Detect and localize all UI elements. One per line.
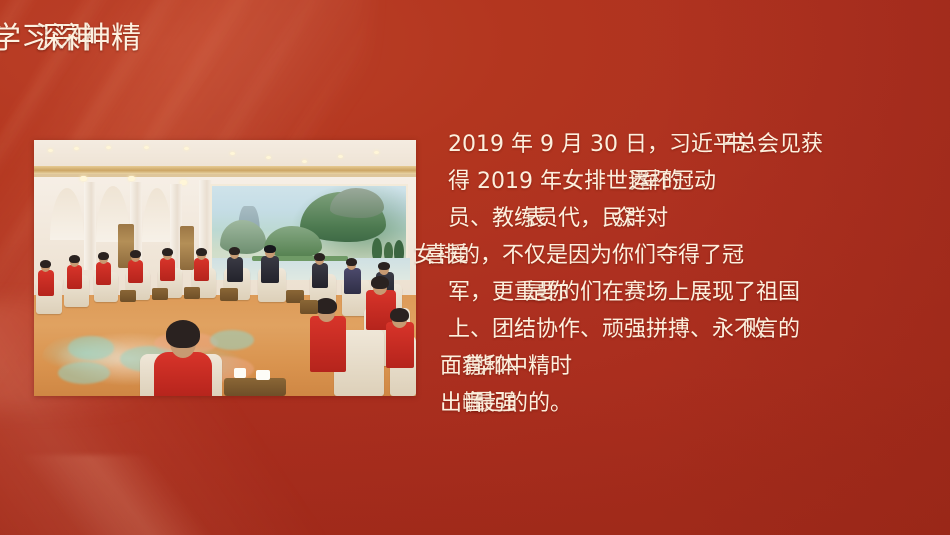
- slide-title-segment-b: 精: [111, 21, 141, 56]
- side-table: [300, 300, 318, 314]
- body-line-2: 得 2019 年女排世界杯冠军的运动: [448, 163, 928, 200]
- meeting-photo: [34, 140, 416, 396]
- athlete-figure-back: [154, 352, 212, 396]
- slide-title-overlap-dup: 深神: [35, 20, 95, 58]
- official-figure: [344, 268, 361, 294]
- ceiling-lamp-icon: [48, 149, 53, 152]
- person-hair: [229, 247, 240, 255]
- ceiling-lamp-icon: [374, 151, 379, 154]
- line8-overlap-dup2: 音: [462, 385, 484, 422]
- line1-overlap-group: 总书: [735, 126, 757, 163]
- line6-overlap-dup: 败: [745, 311, 767, 348]
- line3-overlap-group-2: 群众: [624, 200, 646, 237]
- carpet-motif: [210, 330, 254, 350]
- body-line-1: 2019 年 9 月 30 日，习近平总书会见获: [448, 126, 928, 163]
- line3-overlap2-dup: 众: [613, 200, 635, 237]
- line2-part-a: 得 2019 年女排世界: [448, 169, 650, 194]
- official-figure: [312, 263, 328, 288]
- line4-overlap-dup: 喜爱: [425, 237, 469, 274]
- photo-cornice-gold: [34, 166, 416, 174]
- line3-part-c: 对: [646, 206, 668, 231]
- teacup: [256, 370, 270, 380]
- carpet-motif: [58, 362, 110, 384]
- coffee-table: [224, 378, 286, 396]
- line2-overlap-group: 杯冠军的运: [650, 163, 694, 200]
- person-hair: [346, 258, 357, 266]
- ceiling-lamp-icon: [144, 146, 149, 149]
- side-table: [184, 287, 200, 299]
- slide-title: 学习深神深神精: [0, 20, 141, 58]
- body-text-block: 2019 年 9 月 30 日，习近平总书会见获 得 2019 年女排世界杯冠军…: [448, 126, 928, 422]
- line5-overlap-dup: 是你: [525, 274, 569, 311]
- line3-part-a: 员、教练: [448, 206, 536, 231]
- line1-part-b: 会见获: [757, 132, 823, 157]
- line8-part-b: 的。: [528, 391, 572, 416]
- body-line-4: 女排的喜爱，不仅是因为你们夺得了冠: [414, 237, 894, 274]
- side-table: [120, 290, 136, 302]
- athlete-figure: [128, 260, 143, 283]
- side-table: [220, 288, 238, 301]
- line6-overlap-group: 言败: [756, 311, 778, 348]
- person-hair: [390, 308, 409, 322]
- line5-overlap-group: 要的是你: [536, 274, 580, 311]
- wall-door: [180, 226, 194, 270]
- person-hair: [40, 260, 51, 268]
- body-line-8: 出崛起的最强音的。: [440, 385, 920, 422]
- athlete-figure: [194, 258, 209, 281]
- line3-overlap-dup: 表: [525, 200, 547, 237]
- line6-part-a: 上、团结协作、顽强拼搏、永不: [448, 317, 756, 342]
- line1-part-a: 2019 年 9 月 30 日，习近平: [448, 132, 735, 157]
- line4-part-b: ，不仅是因为你们夺得了冠: [480, 243, 744, 268]
- ceiling-lamp-icon: [338, 155, 343, 158]
- athlete-figure-back: [310, 316, 346, 372]
- mural-mountain: [330, 188, 384, 218]
- line6-part-b: 的: [778, 317, 800, 342]
- line7-overlap-dup2: 育: [462, 348, 484, 385]
- line3-overlap-group: 员代表: [536, 200, 580, 237]
- ceiling-lamp-icon: [184, 147, 189, 150]
- line7-part-b: 精: [528, 354, 550, 379]
- person-hair: [264, 245, 276, 253]
- body-line-3: 员、教练员代表，民群众对: [448, 200, 928, 237]
- person-hair: [130, 250, 141, 258]
- body-line-5: 军，更重要的是你们在赛场上展现了祖国: [448, 274, 928, 311]
- athlete-figure-back: [386, 322, 414, 368]
- ceiling-lamp-icon: [230, 152, 235, 155]
- person-hair: [314, 253, 325, 261]
- person-hair: [166, 320, 200, 348]
- ceiling-lamp-icon: [74, 147, 79, 150]
- side-table: [152, 288, 168, 300]
- person-hair: [98, 252, 109, 260]
- ceiling-lamp-icon: [302, 160, 307, 163]
- line8-overlap-group: 起的最强音: [484, 385, 528, 422]
- person-hair: [371, 276, 389, 289]
- person-hair: [378, 262, 390, 270]
- person-hair: [315, 298, 337, 314]
- ceiling-lamp-icon: [266, 156, 271, 159]
- wall-column: [84, 182, 96, 270]
- line5-part-a: 军，更重: [448, 280, 536, 305]
- line7-part-c: 时: [550, 354, 572, 379]
- wall-sconce-icon: [128, 176, 135, 181]
- line4-overlap-group: 排的喜爱: [436, 237, 480, 274]
- wall-sconce-icon: [80, 176, 87, 181]
- body-line-7: 面貌和中华体育精时: [440, 348, 920, 385]
- line1-overlap-dup: 书: [724, 126, 746, 163]
- body-line-6: 上、团结协作、顽强拼搏、永不言败的: [448, 311, 928, 348]
- carpet-motif: [68, 336, 114, 360]
- line5-part-b: 们在赛场上展现了: [580, 280, 756, 305]
- athlete-figure: [160, 258, 175, 281]
- slide-canvas: 学习深神深神精: [0, 0, 950, 535]
- line2-part-b: 动: [694, 169, 716, 194]
- line7-overlap-group: 和中华体育: [484, 348, 528, 385]
- ceiling-lamp-icon: [106, 146, 111, 149]
- slide-title-overlap-group: 深神深神: [51, 20, 111, 58]
- athlete-figure: [96, 262, 111, 285]
- athlete-figure: [38, 270, 54, 296]
- person-hair: [69, 255, 80, 263]
- person-hair: [196, 248, 207, 256]
- line5-part-c: 祖国: [756, 280, 800, 305]
- teacup: [234, 368, 246, 378]
- leader-figure: [261, 256, 279, 283]
- athlete-figure: [67, 265, 82, 289]
- person-hair: [162, 248, 173, 256]
- official-figure: [227, 257, 243, 282]
- line2-overlap-dup2: 运: [628, 163, 650, 200]
